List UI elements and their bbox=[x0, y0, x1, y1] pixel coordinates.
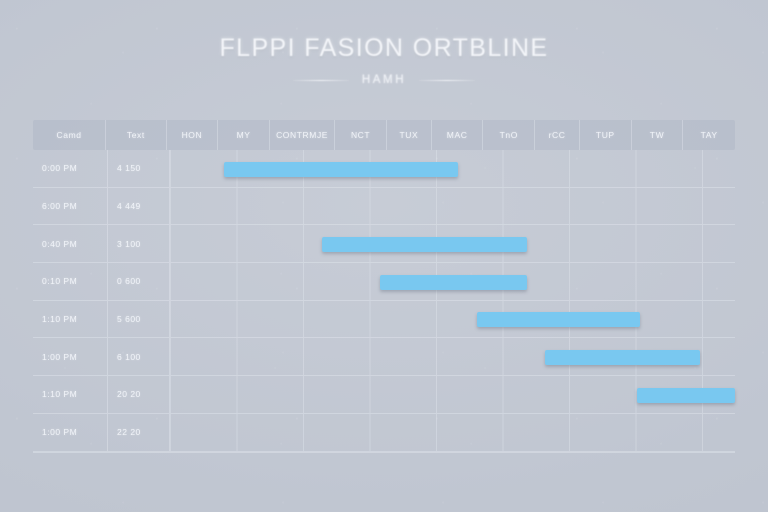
column-header-0[interactable]: Camd bbox=[33, 120, 106, 150]
row-label: 0:10 PM bbox=[33, 263, 108, 300]
row-value: 6 100 bbox=[108, 338, 170, 375]
row-timeline-track[interactable] bbox=[170, 301, 735, 338]
table-row[interactable]: 1:00 PM22 20 bbox=[33, 414, 735, 452]
table-body: 0:00 PM4 1506:00 PM4 4490:40 PM3 1000:10… bbox=[33, 150, 735, 453]
column-header-6[interactable]: TUX bbox=[387, 120, 432, 150]
page-title: FLPPI FASION ORTBLINE bbox=[0, 34, 768, 63]
column-header-8[interactable]: TnO bbox=[483, 120, 535, 150]
row-value: 22 20 bbox=[108, 414, 170, 451]
table-row[interactable]: 0:40 PM3 100 bbox=[33, 225, 735, 263]
table-row[interactable]: 0:00 PM4 150 bbox=[33, 150, 735, 188]
row-timeline-track[interactable] bbox=[170, 376, 735, 413]
row-timeline-track[interactable] bbox=[170, 338, 735, 375]
divider-right bbox=[419, 80, 475, 81]
row-value: 5 600 bbox=[108, 301, 170, 338]
column-header-12[interactable]: TAY bbox=[683, 120, 735, 150]
row-value: 4 150 bbox=[108, 150, 170, 187]
table-row[interactable]: 6:00 PM4 449 bbox=[33, 188, 735, 226]
gantt-chart: CamdTextHONMYCONTRMJENCTTUXMACTnOrCCTUPT… bbox=[33, 120, 735, 453]
row-value: 4 449 bbox=[108, 188, 170, 225]
row-label: 1:10 PM bbox=[33, 376, 108, 413]
row-label: 1:00 PM bbox=[33, 414, 108, 451]
page-subtitle: HAMH bbox=[362, 74, 406, 86]
row-timeline-track[interactable] bbox=[170, 150, 735, 187]
row-label: 0:40 PM bbox=[33, 225, 108, 262]
column-header-5[interactable]: NCT bbox=[335, 120, 387, 150]
row-label: 1:00 PM bbox=[33, 338, 108, 375]
row-label: 0:00 PM bbox=[33, 150, 108, 187]
subtitle-row: HAMH bbox=[0, 74, 768, 86]
row-timeline-track[interactable] bbox=[170, 414, 735, 451]
table-header-row: CamdTextHONMYCONTRMJENCTTUXMACTnOrCCTUPT… bbox=[33, 120, 735, 150]
column-header-4[interactable]: CONTRMJE bbox=[270, 120, 335, 150]
page-header: FLPPI FASION ORTBLINE HAMH bbox=[0, 34, 768, 86]
table-row[interactable]: 0:10 PM0 600 bbox=[33, 263, 735, 301]
column-header-1[interactable]: Text bbox=[106, 120, 166, 150]
column-header-10[interactable]: TUP bbox=[580, 120, 632, 150]
divider-left bbox=[293, 80, 349, 81]
table-row[interactable]: 1:10 PM20 20 bbox=[33, 376, 735, 414]
row-label: 1:10 PM bbox=[33, 301, 108, 338]
row-value: 20 20 bbox=[108, 376, 170, 413]
table-row[interactable]: 1:10 PM5 600 bbox=[33, 301, 735, 339]
column-header-11[interactable]: TW bbox=[632, 120, 684, 150]
column-header-2[interactable]: HON bbox=[167, 120, 219, 150]
row-label: 6:00 PM bbox=[33, 188, 108, 225]
row-timeline-track[interactable] bbox=[170, 263, 735, 300]
table-row[interactable]: 1:00 PM6 100 bbox=[33, 338, 735, 376]
column-header-7[interactable]: MAC bbox=[432, 120, 484, 150]
column-header-3[interactable]: MY bbox=[218, 120, 270, 150]
row-timeline-track[interactable] bbox=[170, 225, 735, 262]
row-timeline-track[interactable] bbox=[170, 188, 735, 225]
column-header-9[interactable]: rCC bbox=[535, 120, 580, 150]
row-value: 0 600 bbox=[108, 263, 170, 300]
row-value: 3 100 bbox=[108, 225, 170, 262]
